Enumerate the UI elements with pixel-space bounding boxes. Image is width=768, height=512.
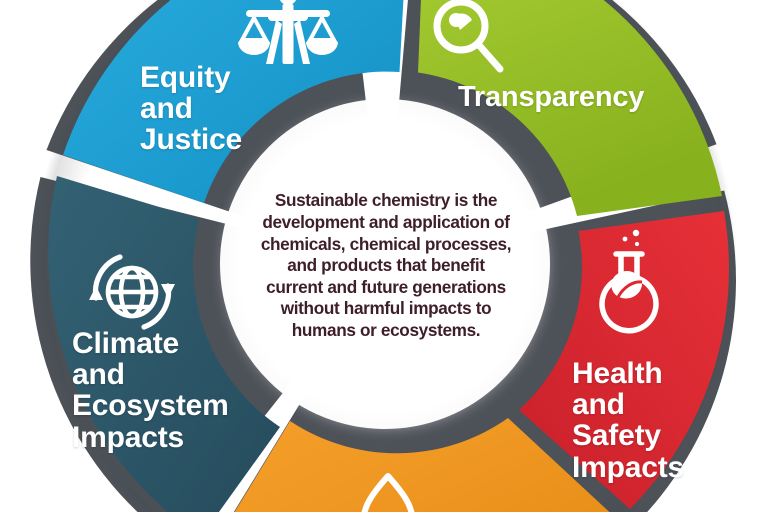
- center-definition-text: Sustainable chemistry is the development…: [257, 190, 515, 341]
- center-hub: Sustainable chemistry is the development…: [238, 118, 534, 414]
- infographic-canvas: Sustainable chemistry is the development…: [0, 0, 768, 512]
